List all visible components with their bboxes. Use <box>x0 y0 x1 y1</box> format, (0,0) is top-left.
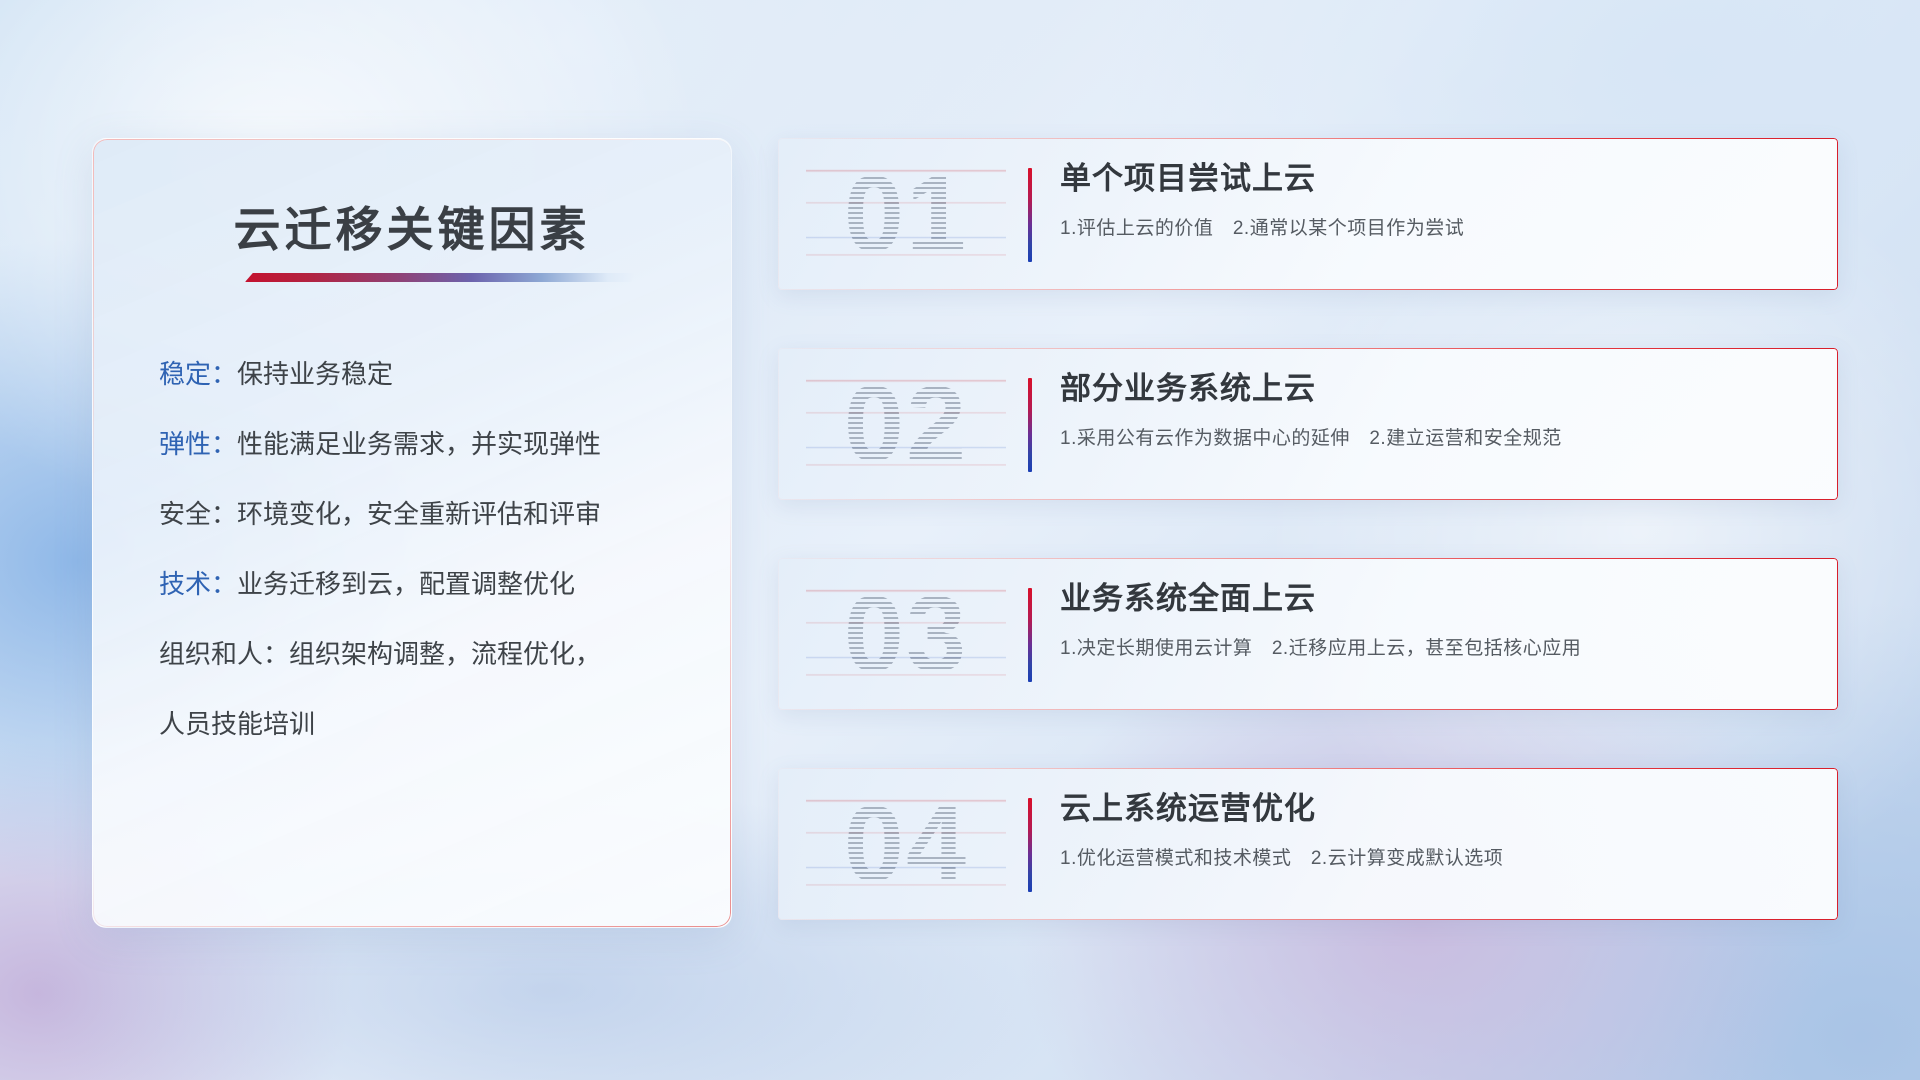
slide-stage: 云迁移关键因素 稳定：保持业务稳定弹性：性能满足业务需求，并实现弹性安全：环境变… <box>0 0 1920 1080</box>
stage-number: 04 <box>806 782 1006 906</box>
stage-card-list: 01单个项目尝试上云1.评估上云的价值 2.通常以某个项目作为尝试02部分业务系… <box>778 138 1838 920</box>
factor-row: 弹性：性能满足业务需求，并实现弹性 <box>159 431 691 457</box>
factor-row: 人员技能培训 <box>159 711 691 737</box>
stage-detail: 1.采用公有云作为数据中心的延伸 2.建立运营和安全规范 <box>1060 423 1810 450</box>
gradient-divider-bar <box>1028 378 1032 472</box>
stage-title: 单个项目尝试上云 <box>1060 160 1810 199</box>
factor-key: 技术： <box>159 569 237 599</box>
factor-key: 安全： <box>159 499 237 529</box>
gradient-divider-bar <box>1028 798 1032 892</box>
key-factors-panel: 云迁移关键因素 稳定：保持业务稳定弹性：性能满足业务需求，并实现弹性安全：环境变… <box>92 138 732 928</box>
factor-list: 稳定：保持业务稳定弹性：性能满足业务需求，并实现弹性安全：环境变化，安全重新评估… <box>159 361 691 737</box>
stage-card-body: 部分业务系统上云1.采用公有云作为数据中心的延伸 2.建立运营和安全规范 <box>1060 370 1810 450</box>
stage-title: 云上系统运营优化 <box>1060 790 1810 829</box>
stage-card-body: 云上系统运营优化1.优化运营模式和技术模式 2.云计算变成默认选项 <box>1060 790 1810 870</box>
factor-key: 组织和人： <box>159 639 289 669</box>
stage-card-body: 单个项目尝试上云1.评估上云的价值 2.通常以某个项目作为尝试 <box>1060 160 1810 240</box>
stage-card[interactable]: 03业务系统全面上云1.决定长期使用云计算 2.迁移应用上云，甚至包括核心应用 <box>778 558 1838 710</box>
stage-title: 业务系统全面上云 <box>1060 580 1810 619</box>
factor-row: 安全：环境变化，安全重新评估和评审 <box>159 501 691 527</box>
stage-card[interactable]: 01单个项目尝试上云1.评估上云的价值 2.通常以某个项目作为尝试 <box>778 138 1838 290</box>
factor-value: 性能满足业务需求，并实现弹性 <box>237 429 601 459</box>
stage-detail: 1.优化运营模式和技术模式 2.云计算变成默认选项 <box>1060 843 1810 870</box>
stage-detail: 1.评估上云的价值 2.通常以某个项目作为尝试 <box>1060 213 1810 240</box>
stage-title: 部分业务系统上云 <box>1060 370 1810 409</box>
factor-key: 弹性： <box>159 429 237 459</box>
factor-value: 组织架构调整，流程优化， <box>289 639 601 669</box>
stage-number: 01 <box>806 152 1006 276</box>
title-underline-rule <box>245 273 635 282</box>
stage-number: 03 <box>806 572 1006 696</box>
factor-row: 组织和人：组织架构调整，流程优化， <box>159 641 691 667</box>
gradient-divider-bar <box>1028 168 1032 262</box>
gradient-divider-bar <box>1028 588 1032 682</box>
factor-value: 人员技能培训 <box>159 709 315 739</box>
panel-title: 云迁移关键因素 <box>93 191 731 260</box>
stage-number: 02 <box>806 362 1006 486</box>
stage-card[interactable]: 04云上系统运营优化1.优化运营模式和技术模式 2.云计算变成默认选项 <box>778 768 1838 920</box>
factor-value: 环境变化，安全重新评估和评审 <box>237 499 601 529</box>
factor-key: 稳定： <box>159 359 237 389</box>
stage-detail: 1.决定长期使用云计算 2.迁移应用上云，甚至包括核心应用 <box>1060 633 1810 660</box>
stage-card[interactable]: 02部分业务系统上云1.采用公有云作为数据中心的延伸 2.建立运营和安全规范 <box>778 348 1838 500</box>
factor-row: 稳定：保持业务稳定 <box>159 361 691 387</box>
factor-value: 保持业务稳定 <box>237 359 393 389</box>
factor-row: 技术：业务迁移到云，配置调整优化 <box>159 571 691 597</box>
stage-card-body: 业务系统全面上云1.决定长期使用云计算 2.迁移应用上云，甚至包括核心应用 <box>1060 580 1810 660</box>
factor-value: 业务迁移到云，配置调整优化 <box>237 569 575 599</box>
